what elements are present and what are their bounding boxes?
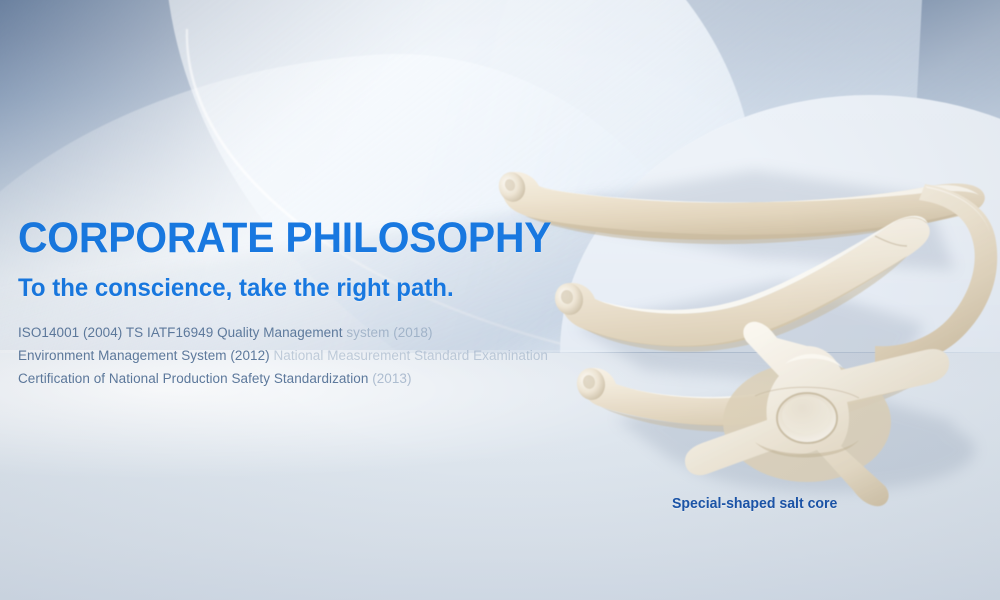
certification-line-2: Environment Management System (2012) Nat…: [18, 344, 658, 367]
headline-text-block: CORPORATE PHILOSOPHY To the conscience, …: [18, 214, 658, 390]
product-caption: Special-shaped salt core: [672, 494, 837, 514]
certification-list: ISO14001 (2004) TS IATF16949 Quality Man…: [18, 321, 658, 390]
page-title: CORPORATE PHILOSOPHY: [18, 214, 626, 263]
corporate-philosophy-banner: CORPORATE PHILOSOPHY To the conscience, …: [0, 0, 1000, 600]
certification-line-1-faded: system (2018): [346, 325, 432, 340]
certification-line-3: Certification of National Production Saf…: [18, 367, 658, 390]
certification-line-1-text: ISO14001 (2004) TS IATF16949 Quality Man…: [18, 325, 346, 340]
certification-line-3-faded: (2013): [372, 371, 411, 386]
certification-line-2-text: Environment Management System (2012): [18, 348, 273, 363]
certification-line-1: ISO14001 (2004) TS IATF16949 Quality Man…: [18, 321, 658, 344]
certification-line-2-faded: National Measurement Standard Examinatio…: [273, 348, 547, 363]
certification-line-3-text: Certification of National Production Saf…: [18, 371, 372, 386]
page-subtitle: To the conscience, take the right path.: [18, 274, 632, 303]
